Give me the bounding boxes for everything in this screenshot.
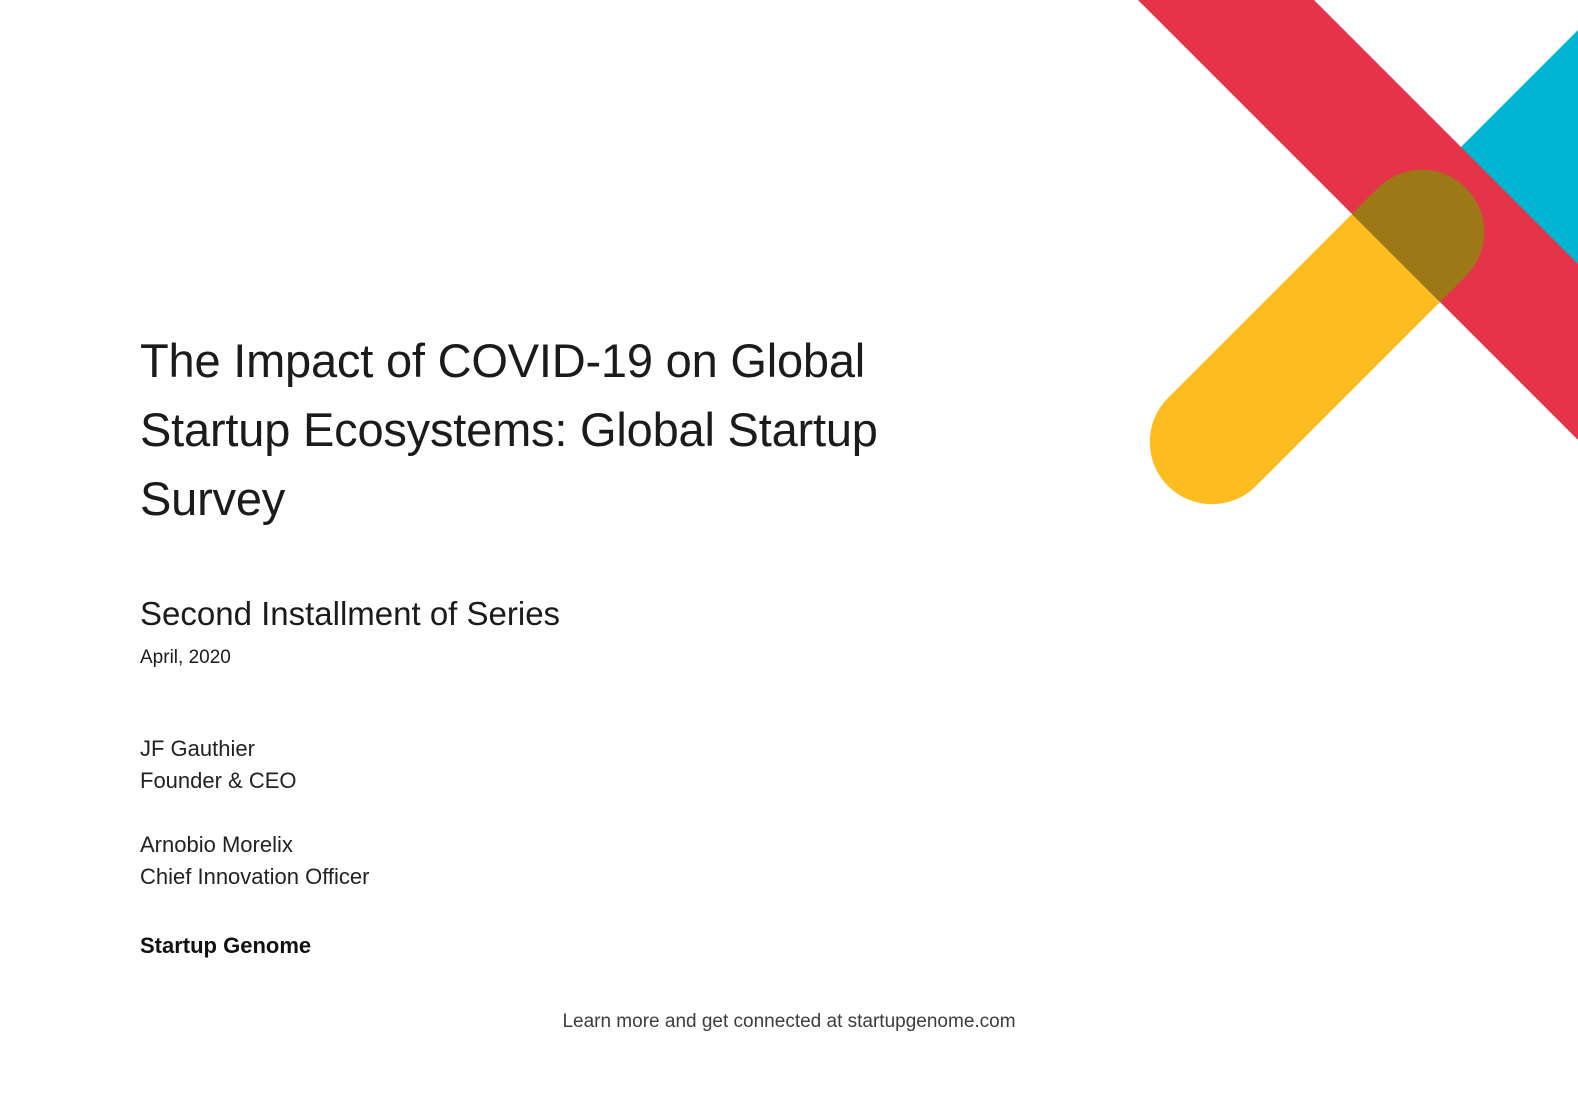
- author-list: JF Gauthier Founder & CEO Arnobio Moreli…: [140, 733, 740, 893]
- slide-content: The Impact of COVID-19 on Global Startup…: [140, 0, 1040, 1098]
- page-title: The Impact of COVID-19 on Global Startup…: [140, 326, 1000, 533]
- logo-bar-yellow: [1150, 170, 1484, 504]
- title-slide: The Impact of COVID-19 on Global Startup…: [0, 0, 1578, 1098]
- author-name: JF Gauthier: [140, 733, 740, 765]
- publication-date: April, 2020: [140, 645, 231, 671]
- author-name: Arnobio Morelix: [140, 829, 740, 861]
- logo-bar-overlap: [1078, 0, 1578, 510]
- organization-name: Startup Genome: [140, 930, 311, 962]
- logo-bar-cyan: [1378, 15, 1578, 355]
- footer-text: Learn more and get connected at startupg…: [0, 1008, 1578, 1036]
- logo-bar-red: [1078, 0, 1578, 510]
- author-entry: Arnobio Morelix Chief Innovation Officer: [140, 829, 740, 893]
- author-entry: JF Gauthier Founder & CEO: [140, 733, 740, 797]
- author-role: Founder & CEO: [140, 765, 740, 797]
- slide-subtitle: Second Installment of Series: [140, 592, 560, 636]
- startup-genome-logo: [1078, 0, 1578, 660]
- author-role: Chief Innovation Officer: [140, 861, 740, 893]
- logo-bar-overlap-top: [1078, 0, 1578, 510]
